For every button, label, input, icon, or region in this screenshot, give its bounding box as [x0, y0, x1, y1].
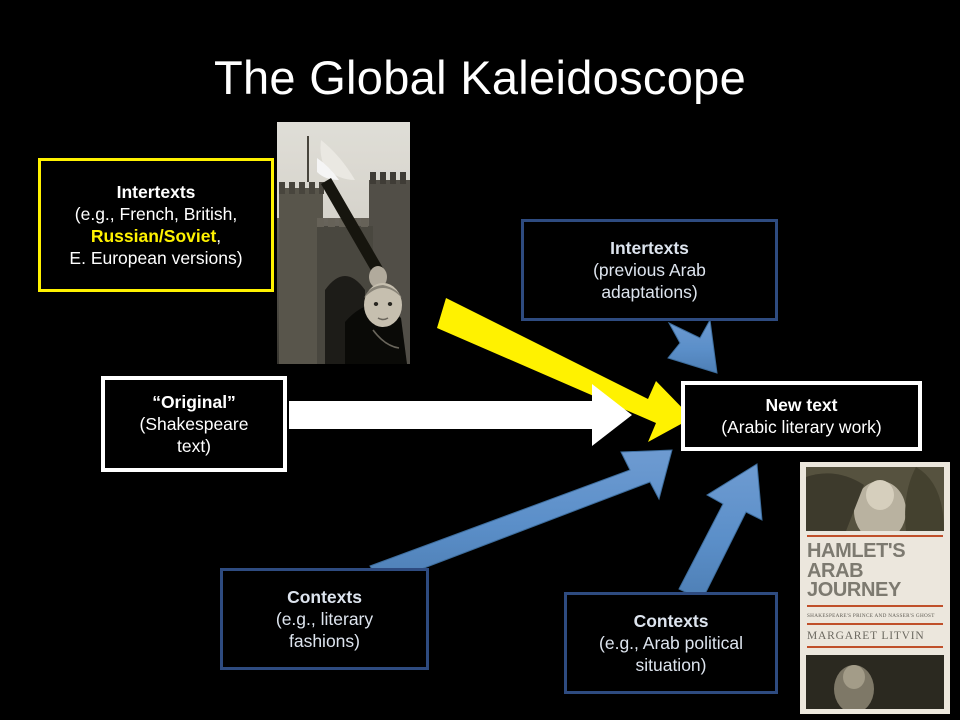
intertexts-arab-line-1: Intertexts: [610, 237, 689, 259]
box-contexts-literary-fashions[interactable]: Contexts (e.g., literary fashions): [220, 568, 429, 670]
box-contexts-arab-political-situation[interactable]: Contexts (e.g., Arab political situation…: [564, 592, 778, 694]
book-cover-title: HAMLET'S ARAB JOURNEY: [807, 542, 943, 601]
hamlet-with-torch-photo: [277, 122, 410, 364]
original-line-3: text): [177, 435, 211, 457]
contexts-literary-line-1: Contexts: [287, 586, 362, 608]
page-title: The Global Kaleidoscope: [0, 52, 960, 104]
book-cover-rule-lower: [807, 623, 943, 625]
contexts-political-line-2: (e.g., Arab political: [599, 632, 743, 654]
intertexts-western-line-1: Intertexts: [117, 181, 196, 203]
contexts-political-line-3: situation): [635, 654, 706, 676]
intertexts-western-line-4: E. European versions): [69, 247, 242, 269]
slide-canvas: The Global Kaleidoscope: [0, 0, 960, 720]
book-cover-subtitle: SHAKESPEARE'S PRINCE AND NASSER'S GHOST: [807, 613, 943, 619]
intertexts-western-highlight: Russian/Soviet: [91, 226, 216, 246]
arrow-blue-arab-intertexts-to-newtext: [668, 320, 717, 373]
arrow-white-original-to-newtext: [289, 384, 632, 446]
book-cover-author: MARGARET LITVIN: [807, 630, 943, 642]
box-intertexts-arab[interactable]: Intertexts (previous Arab adaptations): [521, 219, 778, 321]
new-text-line-2: (Arabic literary work): [721, 416, 881, 438]
intertexts-western-line-3: Russian/Soviet,: [91, 225, 221, 247]
arrow-blue-political-contexts-to-newtext: [679, 464, 762, 600]
book-cover-top-photo: [806, 467, 944, 531]
new-text-line-1: New text: [766, 394, 838, 416]
intertexts-western-line-3-tail: ,: [216, 226, 221, 246]
book-cover-rule-bottom: [807, 646, 943, 648]
book-cover-bottom-photo: [806, 655, 944, 709]
contexts-literary-line-2: (e.g., literary: [276, 608, 373, 630]
intertexts-arab-line-3: adaptations): [601, 281, 697, 303]
book-cover-rule-top: [807, 535, 943, 537]
intertexts-arab-line-2: (previous Arab: [593, 259, 706, 281]
original-line-2: (Shakespeare: [140, 413, 249, 435]
box-original-shakespeare-text[interactable]: “Original” (Shakespeare text): [101, 376, 287, 472]
intertexts-western-line-2: (e.g., French, British,: [75, 203, 237, 225]
book-title-line-3: JOURNEY: [807, 579, 901, 601]
box-new-text[interactable]: New text (Arabic literary work): [681, 381, 922, 451]
book-cover-rule-mid: [807, 605, 943, 607]
contexts-literary-line-3: fashions): [289, 630, 360, 652]
box-intertexts-western[interactable]: Intertexts (e.g., French, British, Russi…: [38, 158, 274, 292]
arrow-blue-literary-contexts-to-newtext: [370, 450, 672, 584]
contexts-political-line-1: Contexts: [634, 610, 709, 632]
original-line-1: “Original”: [152, 391, 236, 413]
hamlets-arab-journey-book-cover: HAMLET'S ARAB JOURNEY SHAKESPEARE'S PRIN…: [800, 462, 950, 714]
